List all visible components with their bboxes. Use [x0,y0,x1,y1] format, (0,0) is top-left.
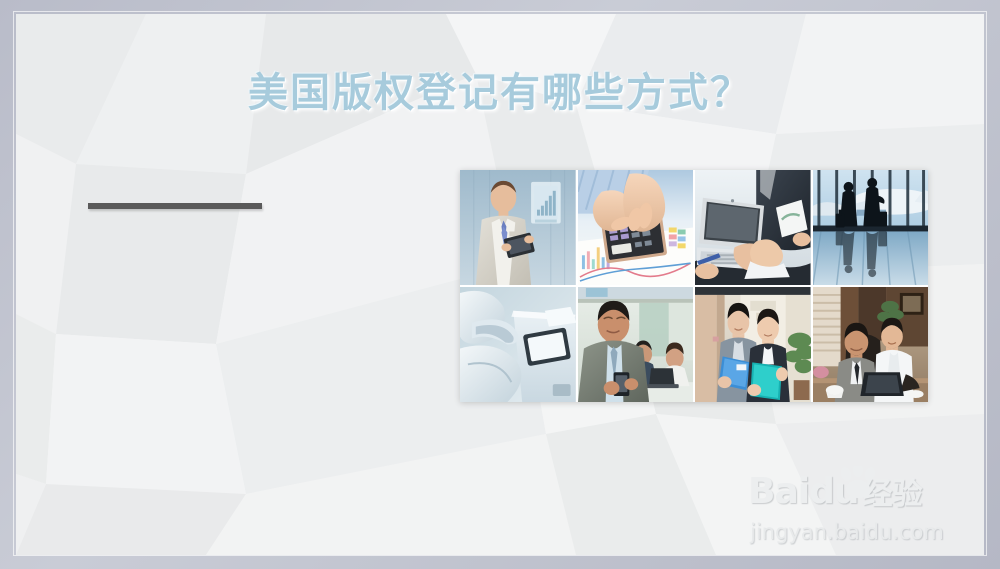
photo-hands-calculator-charts [578,170,694,285]
photo-tile-office-chair-desk-tablet[interactable] [460,287,576,402]
photo-tile-two-women-folders-corridor[interactable] [695,287,811,402]
photo-office-chair-desk-tablet [460,287,576,402]
accent-rule-divider [88,203,262,209]
photo-tile-man-woman-laptop-office[interactable] [813,287,929,402]
photo-tile-man-smartphone-colleagues[interactable] [578,287,694,402]
photo-man-woman-laptop-office [813,287,929,402]
photo-tile-laptop-meeting-hands[interactable] [695,170,811,285]
photo-businessman-tablet-chart [460,170,576,285]
page-title: 美国版权登记有哪些方式？ [0,60,1000,118]
photo-collage-grid [460,170,928,402]
photo-laptop-meeting-hands [695,170,811,285]
photo-tile-airport-silhouettes-airplane[interactable] [813,170,929,285]
photo-two-women-folders-corridor [695,287,811,402]
photo-tile-hands-calculator-charts[interactable] [578,170,694,285]
photo-tile-businessman-tablet-chart[interactable] [460,170,576,285]
photo-airport-silhouettes-airplane [813,170,929,285]
presentation-slide: 美国版权登记有哪些方式？ [0,0,1000,569]
photo-man-smartphone-colleagues [578,287,694,402]
